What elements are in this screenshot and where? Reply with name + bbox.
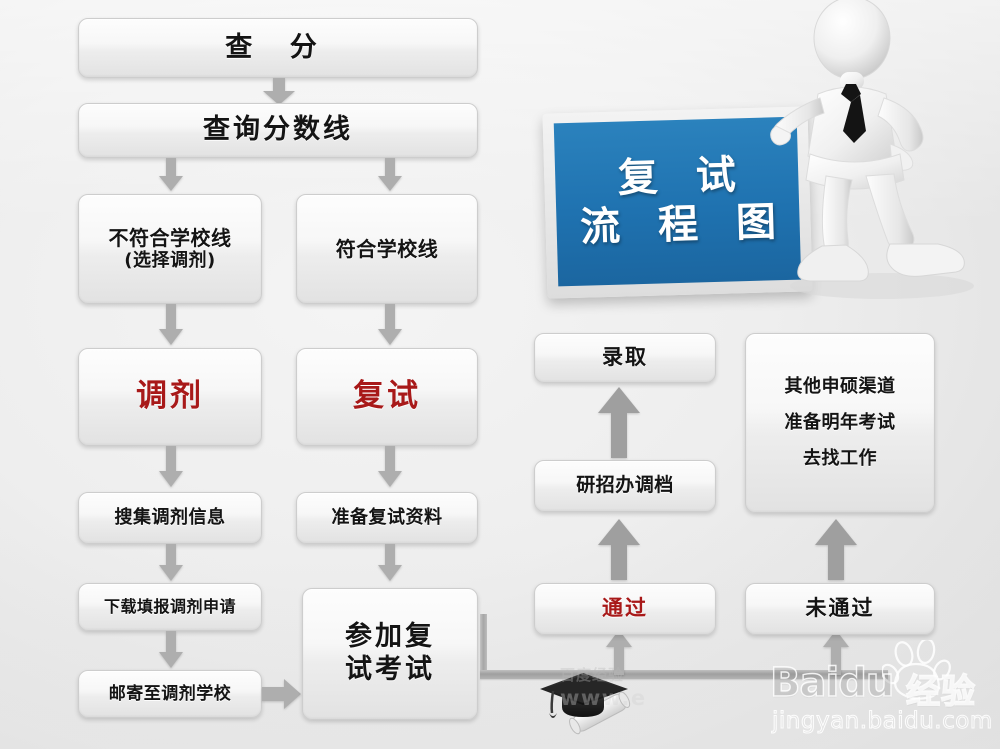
- node-below-school-line[interactable]: 不符合学校线 (选择调剂): [78, 194, 262, 304]
- node-download-application-label: 下载填报调剂申请: [79, 597, 261, 617]
- node-passed-label: 通过: [535, 596, 715, 622]
- node-other-options-label-3: 去找工作: [752, 448, 928, 470]
- node-admitted-label: 录取: [535, 345, 715, 371]
- node-below-school-line-label-2: (选择调剂): [85, 250, 255, 272]
- node-reexam[interactable]: 复试: [296, 348, 478, 446]
- watermark-brand-cn: 经验: [906, 664, 976, 713]
- arrow-trunk-to-not-passed: [822, 630, 850, 676]
- node-not-passed-label: 未通过: [746, 596, 934, 622]
- signboard-title-line-1: 复 试: [605, 152, 748, 203]
- node-reexam-label: 复试: [297, 378, 477, 416]
- node-start-label: 查 分: [79, 32, 477, 65]
- arrow-check-to-meet-line: [377, 158, 403, 192]
- node-prepare-materials-label: 准备复试资料: [297, 507, 477, 529]
- node-collect-transfer-info[interactable]: 搜集调剂信息: [78, 492, 262, 544]
- arrow-below-line-to-transfer: [158, 304, 184, 346]
- signboard-face: 复 试 流 程 图: [554, 117, 801, 287]
- arrow-reexam-to-prepare: [377, 446, 403, 488]
- node-meet-school-line-label: 符合学校线: [297, 237, 477, 261]
- arrow-transfer-to-collect: [158, 446, 184, 488]
- node-transfer-label: 调剂: [79, 378, 261, 416]
- arrow-mail-to-attend-exam: [262, 678, 302, 710]
- arrow-file-transfer-to-admitted: [597, 387, 641, 459]
- arrow-start-to-check: [262, 78, 296, 106]
- node-attend-reexam-label-1: 参加复: [309, 621, 471, 654]
- node-other-options[interactable]: 其他申硕渠道 准备明年考试 去找工作: [745, 333, 935, 513]
- node-meet-school-line[interactable]: 符合学校线: [296, 194, 478, 304]
- node-prepare-materials[interactable]: 准备复试资料: [296, 492, 478, 544]
- node-mail-to-school[interactable]: 邮寄至调剂学校: [78, 670, 262, 718]
- node-other-options-label-2: 准备明年考试: [752, 412, 928, 434]
- node-check-score-line[interactable]: 查询分数线: [78, 103, 478, 158]
- connector-attend-exam-stem: [480, 614, 487, 674]
- arrow-passed-to-file-transfer: [597, 519, 641, 581]
- node-check-score-line-label: 查询分数线: [79, 114, 477, 147]
- node-not-passed[interactable]: 未通过: [745, 583, 935, 635]
- watermark-url: jingyan.baidu.com: [772, 708, 993, 734]
- node-file-transfer[interactable]: 研招办调档: [534, 460, 716, 512]
- node-below-school-line-label-1: 不符合学校线: [85, 226, 255, 250]
- node-file-transfer-label: 研招办调档: [535, 474, 715, 497]
- node-attend-reexam-label-2: 试考试: [309, 654, 471, 687]
- node-admitted[interactable]: 录取: [534, 333, 716, 383]
- mannequin-figure-icon: [770, 0, 1000, 304]
- node-transfer[interactable]: 调剂: [78, 348, 262, 446]
- node-collect-transfer-info-label: 搜集调剂信息: [79, 507, 261, 529]
- signboard-title-line-2: 流 程 图: [568, 198, 789, 251]
- graduation-cap-icon: [540, 655, 650, 735]
- arrow-not-passed-to-other-options: [814, 519, 858, 581]
- node-download-application[interactable]: 下载填报调剂申请: [78, 583, 262, 631]
- arrow-meet-line-to-reexam: [377, 304, 403, 346]
- arrow-download-to-mail: [158, 631, 184, 669]
- node-start[interactable]: 查 分: [78, 18, 478, 78]
- node-passed[interactable]: 通过: [534, 583, 716, 635]
- arrow-check-to-below-line: [158, 158, 184, 192]
- node-attend-reexam[interactable]: 参加复 试考试: [302, 588, 478, 720]
- node-other-options-label-1: 其他申硕渠道: [752, 376, 928, 398]
- watermark-baidu-jingyan: Baidu 经验 jingyan.baidu.com: [762, 648, 994, 744]
- arrow-prepare-to-attend: [377, 544, 403, 582]
- flowchart-canvas: 查 分 查询分数线 不符合学校线 (选择调剂) 符合学校线 调剂 复试: [0, 0, 1000, 749]
- arrow-collect-to-download: [158, 544, 184, 582]
- paw-print-icon: [882, 640, 960, 702]
- node-mail-to-school-label: 邮寄至调剂学校: [79, 684, 261, 705]
